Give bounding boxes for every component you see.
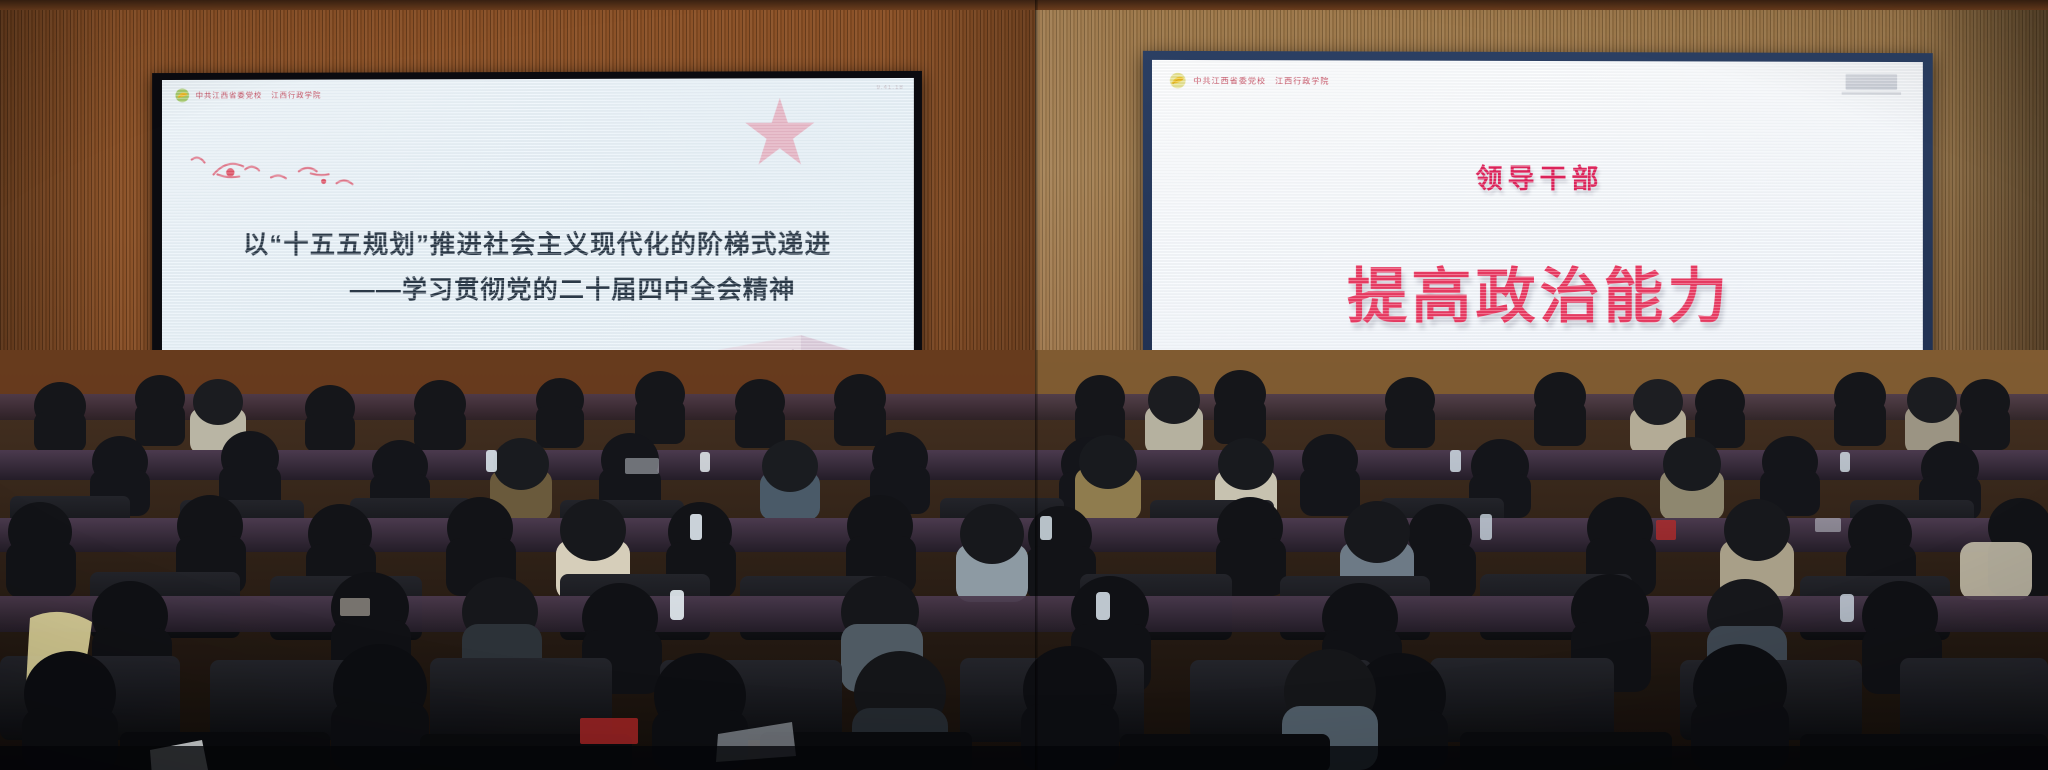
party-school-emblem-icon [175,88,190,103]
left-institution-line: 中共江西省委党校江西行政学院 [196,90,322,101]
left-title-line1: 以“十五五规划”推进社会主义现代化的阶梯式递进 [162,227,914,265]
ceiling-strip [0,0,2048,10]
conference-hall-photo: 中共江西省委党校江西行政学院 9.41.18 [0,0,2048,770]
left-slide-title: 以“十五五规划”推进社会主义现代化的阶梯式递进 ——学习贯彻党的二十届四中全会精… [162,227,914,309]
red-folder [580,718,638,744]
left-title-line2: ——学习贯彻党的二十届四中全会精神 [162,272,914,309]
left-corner-tag: 9.41.18 [876,85,903,91]
right-slide-title-block: 领导干部 提高政治能力 [1152,156,1923,335]
right-institution-line: 中共江西省委党校 江西行政学院 [1193,75,1329,86]
left-slide-header: 中共江西省委党校江西行政学院 [175,88,321,103]
party-school-emblem-icon [1169,72,1186,89]
right-slide-header: 中共江西省委党校 江西行政学院 [1169,72,1329,89]
panorama-seam [1035,0,1038,770]
seated-audience [0,350,2048,770]
right-slide-main-title: 提高政治能力 [1152,248,1923,335]
right-slide-subtitle: 领导干部 [1152,156,1923,196]
right-corner-badge [1846,74,1898,90]
flying-birds-icon [188,141,367,196]
five-pointed-star-icon [743,96,817,166]
